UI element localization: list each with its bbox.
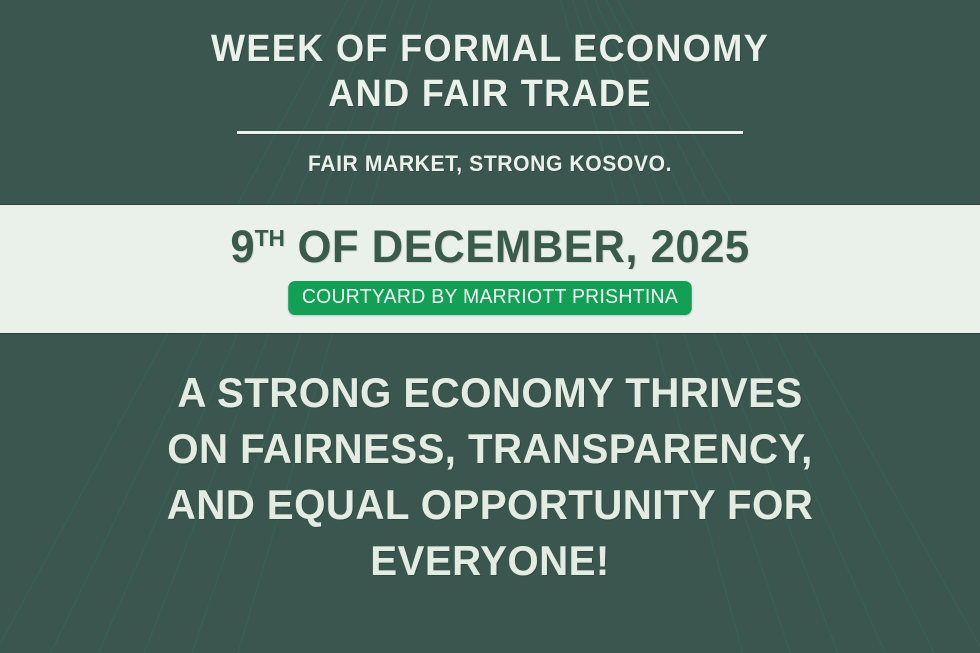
event-date: 9TH OF DECEMBER, 2025 (15, 205, 966, 273)
page-title: WEEK OF FORMAL ECONOMY AND FAIR TRADE (25, 0, 956, 117)
event-date-rest: OF DECEMBER, 2025 (285, 221, 750, 272)
event-day-number: 9 (230, 221, 254, 272)
event-day-ordinal-suffix: TH (255, 225, 285, 251)
title-line-2: AND FAIR TRADE (25, 72, 956, 117)
tagline-line-3: AND EQUAL OPPORTUNITY FOR (20, 477, 961, 533)
title-line-1: WEEK OF FORMAL ECONOMY (211, 28, 769, 70)
poster-header: WEEK OF FORMAL ECONOMY AND FAIR TRADE FA… (0, 0, 980, 205)
date-band: 9TH OF DECEMBER, 2025 COURTYARD BY MARRI… (0, 205, 980, 333)
tagline-line-1: A STRONG ECONOMY THRIVES (20, 365, 961, 421)
tagline-line-2: ON FAIRNESS, TRANSPARENCY, (20, 421, 961, 477)
tagline-section: A STRONG ECONOMY THRIVES ON FAIRNESS, TR… (0, 333, 980, 653)
venue-badge[interactable]: COURTYARD BY MARRIOTT PRISHTINA (288, 281, 691, 315)
tagline-text: A STRONG ECONOMY THRIVES ON FAIRNESS, TR… (20, 333, 961, 589)
tagline-line-4: EVERYONE! (20, 533, 961, 589)
event-poster: WEEK OF FORMAL ECONOMY AND FAIR TRADE FA… (0, 0, 980, 653)
poster-subtitle: FAIR MARKET, STRONG KOSOVO. (20, 134, 961, 177)
